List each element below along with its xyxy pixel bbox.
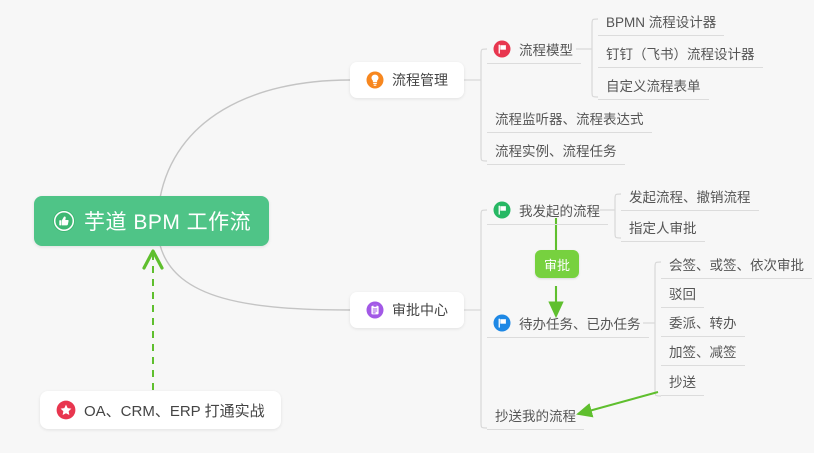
- connector-root-to-process-management: [160, 80, 350, 198]
- leaf-label-process-instance: 流程实例、流程任务: [495, 140, 617, 160]
- leaf-label-cc: 抄送: [669, 371, 696, 391]
- leaf-label-custom-form: 自定义流程表单: [606, 75, 701, 95]
- leaf-label-cc-my-process: 抄送我的流程: [495, 405, 576, 425]
- root-node-label: 芋道 BPM 工作流: [84, 206, 251, 236]
- leaf-label-add-remove-sign: 加签、减签: [669, 341, 737, 361]
- leaf-label-todo-done-task: 待办任务、已办任务: [519, 313, 641, 333]
- leaf-node-start-cancel-process[interactable]: 发起流程、撤销流程: [621, 181, 759, 211]
- clipboard-icon: [366, 301, 384, 319]
- leaf-label-assigned-approval: 指定人审批: [629, 217, 697, 237]
- flag-icon: [493, 314, 511, 332]
- leaf-label-process-listener: 流程监听器、流程表达式: [495, 108, 644, 128]
- branch-label-process-management: 流程管理: [392, 70, 448, 90]
- leaf-node-cc[interactable]: 抄送: [661, 366, 704, 396]
- leaf-node-todo-done-task[interactable]: 待办任务、已办任务: [487, 308, 649, 338]
- annotation-card-label: OA、CRM、ERP 打通实战: [84, 400, 265, 421]
- flag-icon: [493, 40, 511, 58]
- flag-icon: [493, 201, 511, 219]
- leaf-node-my-started-process[interactable]: 我发起的流程: [487, 195, 608, 225]
- lightbulb-icon: [366, 71, 384, 89]
- branch-node-approval-center[interactable]: 审批中心: [350, 292, 464, 328]
- leaf-node-assigned-approval[interactable]: 指定人审批: [621, 212, 705, 242]
- leaf-label-reject: 驳回: [669, 283, 696, 303]
- approval-badge-label: 审批: [544, 255, 570, 274]
- branch-node-process-management[interactable]: 流程管理: [350, 62, 464, 98]
- leaf-node-bpmn-designer[interactable]: BPMN 流程设计器: [598, 6, 724, 36]
- leaf-label-my-started-process: 我发起的流程: [519, 200, 600, 220]
- mindmap-canvas: 芋道 BPM 工作流 流程管理 流程模型 BPMN 流程设计器 钉钉（飞书）流程: [0, 0, 814, 453]
- approval-badge[interactable]: 审批: [535, 250, 579, 278]
- star-icon: [56, 400, 76, 420]
- leaf-node-process-model[interactable]: 流程模型: [487, 34, 581, 64]
- leaf-node-reject[interactable]: 驳回: [661, 278, 704, 308]
- leaf-node-cc-my-process[interactable]: 抄送我的流程: [487, 400, 584, 430]
- leaf-node-custom-form[interactable]: 自定义流程表单: [598, 70, 709, 100]
- leaf-node-process-listener[interactable]: 流程监听器、流程表达式: [487, 103, 652, 133]
- leaf-node-dingtalk-designer[interactable]: 钉钉（飞书）流程设计器: [598, 38, 763, 68]
- leaf-label-delegate-transfer: 委派、转办: [669, 312, 737, 332]
- leaf-node-process-instance[interactable]: 流程实例、流程任务: [487, 135, 625, 165]
- branch-label-approval-center: 审批中心: [392, 300, 448, 320]
- leaf-label-dingtalk-designer: 钉钉（飞书）流程设计器: [606, 43, 755, 63]
- connector-cc-to-cc-my-process: [578, 392, 658, 414]
- leaf-label-bpmn-designer: BPMN 流程设计器: [606, 11, 716, 31]
- leaf-node-add-remove-sign[interactable]: 加签、减签: [661, 336, 745, 366]
- leaf-node-delegate-transfer[interactable]: 委派、转办: [661, 307, 745, 337]
- leaf-label-countersign: 会签、或签、依次审批: [669, 254, 804, 274]
- leaf-label-process-model: 流程模型: [519, 39, 573, 59]
- connector-root-to-approval-center: [160, 245, 350, 310]
- thumbs-up-icon: [52, 209, 76, 233]
- leaf-node-countersign[interactable]: 会签、或签、依次审批: [661, 249, 812, 279]
- leaf-label-start-cancel-process: 发起流程、撤销流程: [629, 186, 751, 206]
- root-node[interactable]: 芋道 BPM 工作流: [34, 196, 269, 246]
- annotation-card-integration-practice[interactable]: OA、CRM、ERP 打通实战: [40, 391, 281, 429]
